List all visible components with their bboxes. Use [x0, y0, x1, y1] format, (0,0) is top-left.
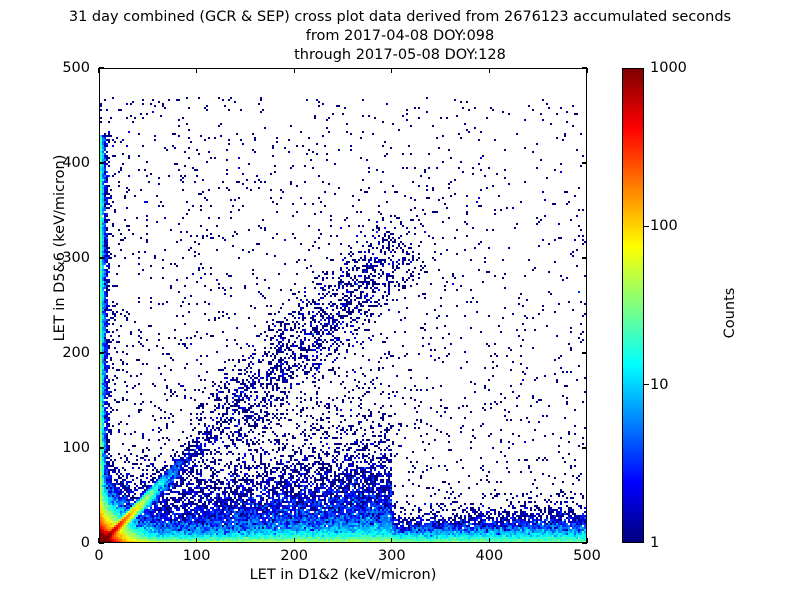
colorbar-gradient: [623, 69, 643, 542]
x-tick-mark: [391, 68, 392, 73]
y-tick-label: 500: [62, 60, 90, 76]
x-tick-mark: [196, 538, 197, 543]
colorbar-tick-mark: [644, 384, 649, 385]
x-tick-mark: [586, 68, 587, 73]
y-tick-label: 100: [62, 440, 90, 456]
y-tick-mark: [582, 162, 587, 163]
x-tick-label: 100: [183, 548, 211, 564]
colorbar-tick-label: 1: [650, 535, 659, 551]
x-tick-mark: [196, 68, 197, 73]
y-tick-label: 0: [81, 535, 90, 551]
y-tick-mark: [582, 542, 587, 543]
x-tick-mark: [294, 538, 295, 543]
x-tick-label: 300: [378, 548, 406, 564]
x-tick-label: 0: [94, 548, 103, 564]
y-tick-mark: [582, 67, 587, 68]
y-tick-mark: [99, 162, 104, 163]
colorbar-tick-label: 100: [650, 218, 678, 234]
x-tick-mark: [98, 68, 99, 73]
colorbar-tick-label: 10: [650, 377, 668, 393]
x-tick-mark: [489, 68, 490, 73]
x-tick-label: 200: [280, 548, 308, 564]
colorbar-tick-mark: [644, 226, 649, 227]
figure-title: 31 day combined (GCR & SEP) cross plot d…: [0, 8, 800, 65]
y-tick-mark: [99, 67, 104, 68]
y-tick-mark: [99, 542, 104, 543]
x-axis-label: LET in D1&2 (keV/micron): [99, 567, 587, 583]
y-tick-mark: [582, 352, 587, 353]
x-tick-label: 400: [476, 548, 504, 564]
scatter-density-plot: [100, 69, 587, 543]
colorbar-tick-label: 1000: [650, 60, 687, 76]
title-line-1: 31 day combined (GCR & SEP) cross plot d…: [0, 8, 800, 27]
figure-canvas: 31 day combined (GCR & SEP) cross plot d…: [0, 0, 800, 600]
plot-axes: [99, 68, 587, 543]
y-tick-mark: [99, 352, 104, 353]
colorbar-title: Counts: [722, 223, 738, 403]
x-tick-mark: [489, 538, 490, 543]
y-tick-mark: [99, 257, 104, 258]
x-tick-mark: [391, 538, 392, 543]
x-tick-mark: [294, 68, 295, 73]
y-axis-label: LET in D5&6 (keV/micron): [52, 78, 68, 418]
y-tick-mark: [99, 447, 104, 448]
y-tick-mark: [582, 257, 587, 258]
title-line-2: from 2017-04-08 DOY:098: [0, 27, 800, 46]
y-tick-mark: [582, 447, 587, 448]
colorbar: [622, 68, 644, 543]
x-tick-label: 500: [573, 548, 601, 564]
